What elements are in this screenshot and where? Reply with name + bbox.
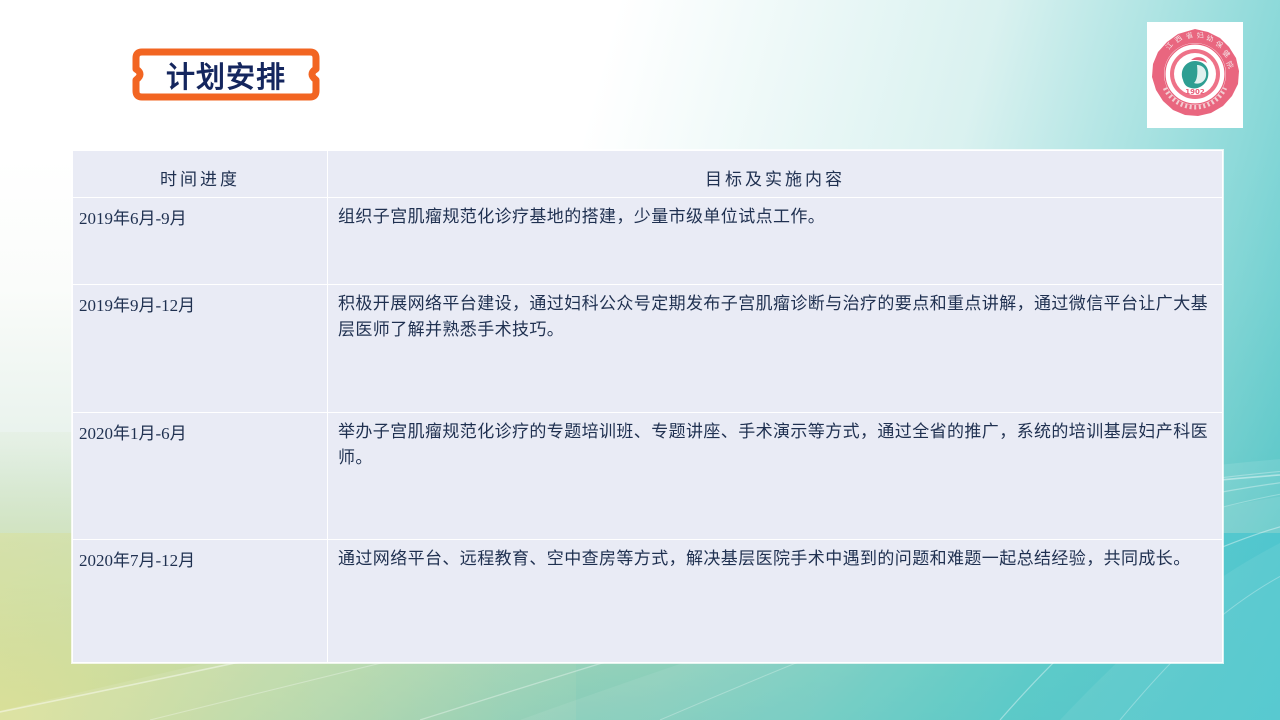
- column-header-goal: 目标及实施内容: [328, 151, 1223, 198]
- table-row: 2019年9月-12月 积极开展网络平台建设，通过妇科公众号定期发布子宫肌瘤诊断…: [73, 285, 1223, 413]
- table-row: 2019年6月-9月 组织子宫肌瘤规范化诊疗基地的搭建，少量市级单位试点工作。: [73, 198, 1223, 285]
- cell-goal: 通过网络平台、远程教育、空中查房等方式，解决基层医院手术中遇到的问题和难题一起总…: [328, 540, 1223, 663]
- cell-time: 2020年1月-6月: [73, 413, 328, 540]
- cell-goal: 举办子宫肌瘤规范化诊疗的专题培训班、专题讲座、手术演示等方式，通过全省的推广，系…: [328, 413, 1223, 540]
- plan-schedule-table: 时间进度 目标及实施内容 2019年6月-9月 组织子宫肌瘤规范化诊疗基地的搭建…: [72, 150, 1223, 663]
- cell-time: 2020年7月-12月: [73, 540, 328, 663]
- hospital-seal-icon: 江 西 省 妇 幼 保 健 院 1902: [1147, 22, 1243, 128]
- cell-time: 2019年6月-9月: [73, 198, 328, 285]
- column-header-time: 时间进度: [73, 151, 328, 198]
- slide-canvas: 计划安排: [0, 0, 1280, 720]
- svg-text:1902: 1902: [1185, 88, 1205, 96]
- slide-title: 计划安排: [128, 44, 324, 106]
- cell-goal: 积极开展网络平台建设，通过妇科公众号定期发布子宫肌瘤诊断与治疗的要点和重点讲解，…: [328, 285, 1223, 413]
- slide-title-plaque: 计划安排: [128, 44, 324, 106]
- cell-goal: 组织子宫肌瘤规范化诊疗基地的搭建，少量市级单位试点工作。: [328, 198, 1223, 285]
- table-header-row: 时间进度 目标及实施内容: [73, 151, 1223, 198]
- svg-text:妇: 妇: [1197, 31, 1205, 40]
- cell-time: 2019年9月-12月: [73, 285, 328, 413]
- table-row: 2020年1月-6月 举办子宫肌瘤规范化诊疗的专题培训班、专题讲座、手术演示等方…: [73, 413, 1223, 540]
- table-row: 2020年7月-12月 通过网络平台、远程教育、空中查房等方式，解决基层医院手术…: [73, 540, 1223, 663]
- hospital-logo: 江 西 省 妇 幼 保 健 院 1902: [1147, 22, 1243, 128]
